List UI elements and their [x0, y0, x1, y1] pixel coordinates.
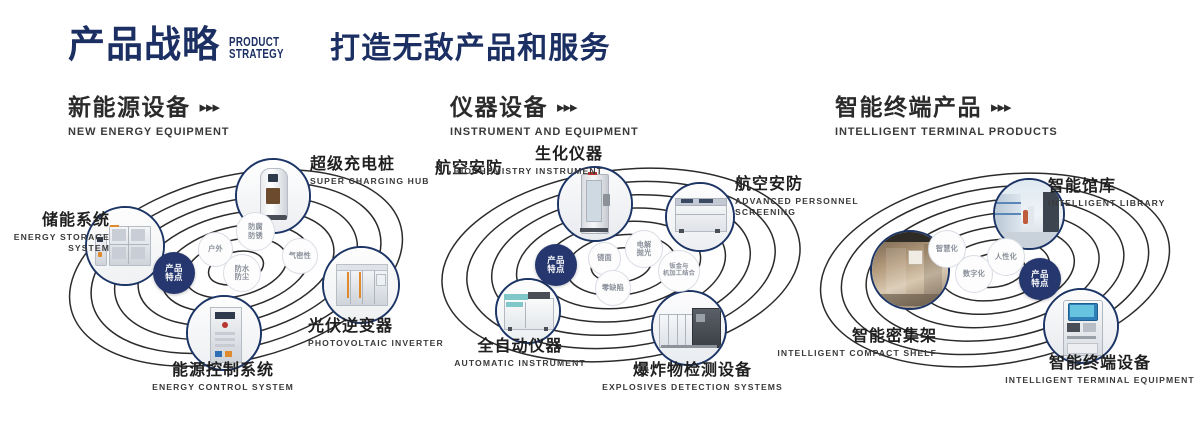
node-energy-control-system[interactable] — [186, 295, 262, 371]
feature-bubble-humanized: 人性化 — [987, 238, 1025, 276]
feature-bubble-text: 镜面 — [597, 254, 612, 262]
feature-bubble-anticorrosion: 防腐 防锈 — [236, 212, 275, 251]
caption-en: INTELLIGENT LIBRARY — [1048, 198, 1200, 209]
caption-cn: 智能馆库 — [1048, 178, 1200, 196]
section-title-en: INSTRUMENT AND EQUIPMENT — [450, 126, 639, 138]
caption-en: ENERGY CONTROL SYSTEM — [88, 382, 358, 393]
feature-bubble-sheetmetal-machining: 钣金与 机加工结合 — [658, 250, 700, 292]
caption-biochemistry-instrument: 生化仪器 BIOCHEMISTRY INSTRUMENT — [453, 146, 603, 177]
section-title-cn: 智能终端产品 — [835, 96, 982, 119]
node-photovoltaic-inverter[interactable] — [322, 246, 400, 324]
feature-bubble-text: 人性化 — [995, 253, 1017, 261]
feature-bubble-waterproof: 防水 防尘 — [223, 254, 261, 292]
caption-cn: 生化仪器 — [453, 146, 603, 164]
section-title-new-energy: 新能源设备 ▸▸▸ NEW ENERGY EQUIPMENT — [68, 96, 229, 138]
feature-bubble-airtightness: 气密性 — [282, 238, 318, 274]
caption-intelligent-library: 智能馆库 INTELLIGENT LIBRARY — [1048, 178, 1200, 209]
page-title: 产品战略 PRODUCT STRATEGY — [68, 26, 299, 63]
feature-bubble-text: 数字化 — [963, 270, 985, 278]
feature-bubble-main: 产品 特点 — [153, 252, 195, 294]
product-strategy-infographic: 产品战略 PRODUCT STRATEGY 打造无敌产品和服务 新能源设备 ▸▸… — [0, 0, 1200, 422]
caption-cn: 能源控制系统 — [88, 362, 358, 380]
caption-cn: 储能系统 — [12, 212, 110, 230]
node-biochemistry-instrument[interactable] — [557, 166, 633, 242]
section-title-intelligent-terminal: 智能终端产品 ▸▸▸ INTELLIGENT TERMINAL PRODUCTS — [835, 96, 1058, 138]
feature-bubble-text: 零缺陷 — [602, 284, 624, 292]
caption-en: ENERGY STORAGE SYSTEM — [12, 232, 110, 253]
caption-en: INTELLIGENT TERMINAL EQUIPMENT — [1000, 375, 1200, 386]
node-intelligent-terminal-equipment[interactable] — [1043, 288, 1119, 364]
feature-bubble-text: 钣金与 机加工结合 — [663, 264, 695, 278]
cluster-intelligent-terminal: 智能馆库 INTELLIGENT LIBRARY 智能密集架 INTELLIGE… — [815, 150, 1200, 395]
feature-bubble-text: 防水 防尘 — [235, 265, 250, 281]
caption-cn: 智能密集架 — [757, 328, 937, 346]
feature-bubble-text: 气密性 — [289, 252, 311, 260]
feature-bubble-text: 户外 — [208, 245, 223, 253]
page-subtitle: 打造无敌产品和服务 — [330, 34, 611, 64]
feature-bubble-text: 产品 特点 — [1031, 270, 1049, 289]
caption-cn: 爆炸物检测设备 — [580, 362, 805, 380]
chevron-right-triple-icon: ▸▸▸ — [991, 100, 1011, 115]
node-advanced-personnel-screening[interactable] — [665, 182, 735, 252]
caption-cn: 智能终端设备 — [1000, 355, 1200, 373]
caption-en: INTELLIGENT COMPACT SHELF — [757, 348, 937, 359]
chevron-right-triple-icon: ▸▸▸ — [557, 100, 577, 115]
feature-bubble-zero-defect: 零缺陷 — [595, 270, 631, 306]
section-title-cn: 仪器设备 — [450, 96, 548, 119]
page-title-en: PRODUCT STRATEGY — [229, 36, 284, 60]
caption-energy-control-system: 能源控制系统 ENERGY CONTROL SYSTEM — [88, 362, 358, 393]
feature-bubble-electropolishing: 电解 抛光 — [625, 230, 663, 268]
caption-intelligent-terminal-equipment: 智能终端设备 INTELLIGENT TERMINAL EQUIPMENT — [1000, 355, 1200, 386]
page-title-cn: 产品战略 — [68, 26, 220, 63]
section-title-instrument: 仪器设备 ▸▸▸ INSTRUMENT AND EQUIPMENT — [450, 96, 639, 138]
page-title-en-line2: STRATEGY — [229, 48, 284, 60]
feature-bubble-text: 产品 特点 — [165, 264, 183, 283]
section-title-cn: 新能源设备 — [68, 96, 191, 119]
feature-bubble-text: 防腐 防锈 — [248, 223, 263, 239]
feature-bubble-main: 产品 特点 — [535, 244, 577, 286]
chevron-right-triple-icon: ▸▸▸ — [200, 100, 220, 115]
feature-bubble-text: 产品 特点 — [547, 256, 565, 275]
section-title-en: INTELLIGENT TERMINAL PRODUCTS — [835, 126, 1058, 138]
caption-en: EXPLOSIVES DETECTION SYSTEMS — [580, 382, 805, 393]
cluster-new-energy: 储能系统 ENERGY STORAGE SYSTEM 超级充电桩 SUPER C… — [40, 150, 430, 380]
node-explosives-detection-systems[interactable] — [651, 290, 727, 366]
caption-explosives-detection-systems: 爆炸物检测设备 EXPLOSIVES DETECTION SYSTEMS — [580, 362, 805, 393]
feature-bubble-text: 电解 抛光 — [637, 241, 652, 257]
caption-cn: 全自动仪器 — [415, 338, 625, 356]
section-title-en: NEW ENERGY EQUIPMENT — [68, 126, 229, 138]
feature-bubble-text: 智慧化 — [936, 245, 958, 253]
feature-bubble-main: 产品 特点 — [1019, 258, 1061, 300]
caption-en: BIOCHEMISTRY INSTRUMENT — [453, 166, 603, 177]
node-automatic-instrument[interactable] — [495, 278, 561, 344]
caption-energy-storage-system: 储能系统 ENERGY STORAGE SYSTEM — [12, 212, 110, 253]
caption-intelligent-compact-shelf: 智能密集架 INTELLIGENT COMPACT SHELF — [757, 328, 937, 359]
